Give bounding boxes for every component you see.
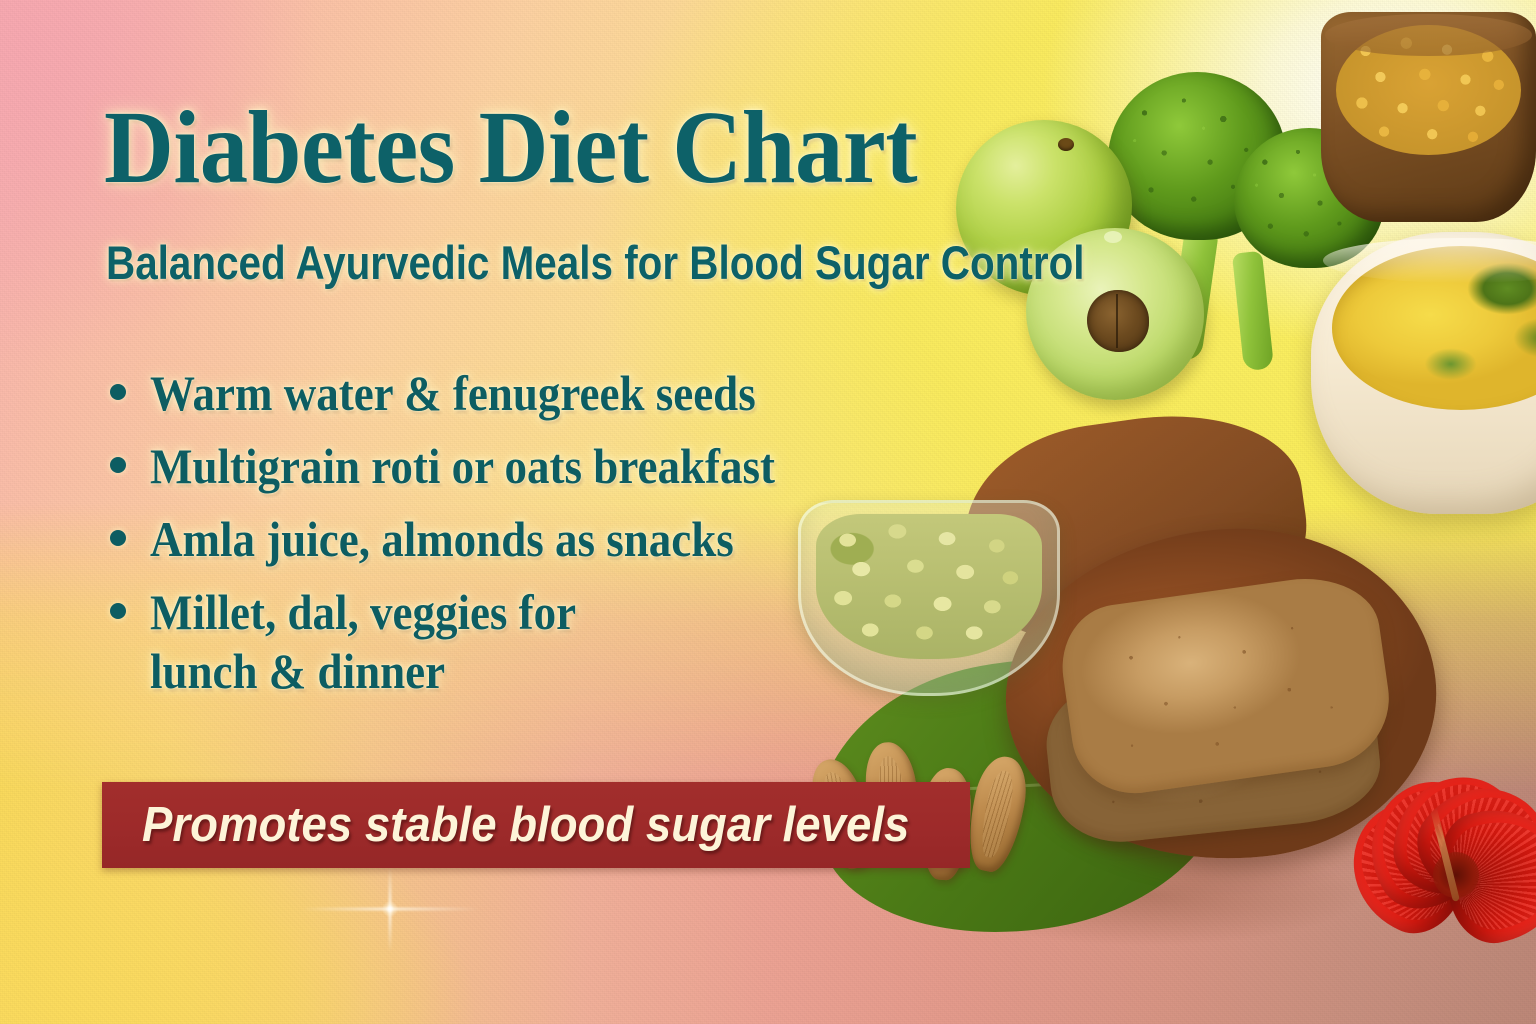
page-subtitle: Balanced Ayurvedic Meals for Blood Sugar… [106, 237, 1084, 289]
white-bowl-of-dal [1311, 232, 1536, 514]
list-item: Amla juice, almonds as snacks [104, 510, 984, 569]
diet-tips-list: Warm water & fenugreek seeds Multigrain … [104, 364, 984, 715]
wooden-bowl-fenugreek-seeds [1321, 12, 1536, 222]
promotes-banner: Promotes stable blood sugar levels [102, 782, 970, 868]
list-item-label: Millet, dal, veggies for lunch & dinner [150, 583, 576, 701]
diabetes-diet-chart-poster: Diabetes Diet Chart Balanced Ayurvedic M… [0, 0, 1536, 1024]
list-item-label: Warm water & fenugreek seeds [150, 364, 756, 423]
list-item-label: Multigrain roti or oats breakfast [150, 437, 775, 496]
bullet-dot-icon [110, 603, 126, 619]
bullet-dot-icon [110, 384, 126, 400]
text-column: Diabetes Diet Chart Balanced Ayurvedic M… [0, 0, 1000, 1024]
banner-label: Promotes stable blood sugar levels [142, 797, 909, 853]
list-item: Multigrain roti or oats breakfast [104, 437, 984, 496]
list-item: Millet, dal, veggies for lunch & dinner [104, 583, 984, 701]
list-item: Warm water & fenugreek seeds [104, 364, 984, 423]
broccoli-stem-b [1232, 251, 1274, 371]
list-item-label: Amla juice, almonds as snacks [150, 510, 734, 569]
bullet-dot-icon [110, 457, 126, 473]
page-title: Diabetes Diet Chart [104, 96, 917, 200]
bullet-dot-icon [110, 530, 126, 546]
